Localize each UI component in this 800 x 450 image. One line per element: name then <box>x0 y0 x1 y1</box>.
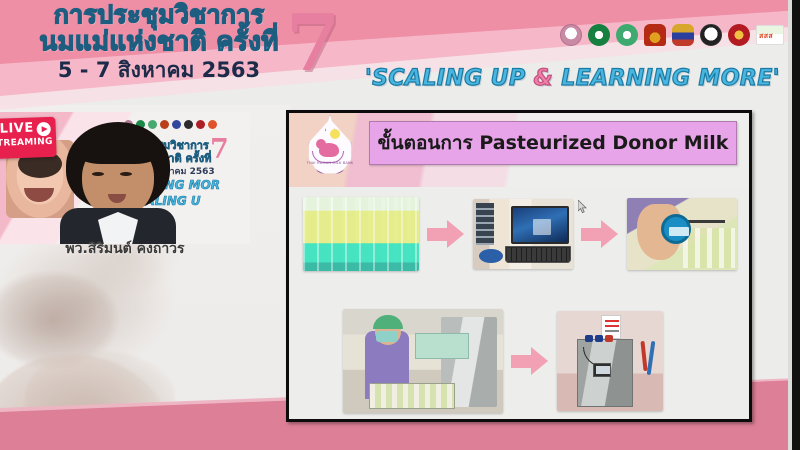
presentation-slide: THAI HUMAN MILK BANK ขั้นตอนการ Pasteuri… <box>286 110 752 422</box>
nurse-face-mask <box>376 331 398 342</box>
royal-emblem-logo <box>672 24 694 46</box>
stethoscope-object <box>479 249 503 263</box>
milk-bottle-tray <box>369 383 455 409</box>
nurse-surgical-cap <box>373 315 403 329</box>
tagline-ampersand: & <box>534 66 554 91</box>
laptop-photo-shelf <box>476 203 494 245</box>
photo-milk-bottles-rack <box>303 197 419 271</box>
machine-control-knobs <box>585 335 593 342</box>
process-flow-row-1 <box>303 197 737 271</box>
blue-hose <box>647 341 656 375</box>
tagline-part-before: 'SCALING UP <box>365 66 534 91</box>
mouse-pointer <box>578 200 588 214</box>
milk-bottles-background <box>683 228 735 268</box>
red-hose <box>640 341 647 371</box>
conference-title-line2: นมแม่แห่งชาติ ครั้งที่ <box>24 29 294 56</box>
milk-bank-logo-caption: THAI HUMAN MILK BANK <box>301 161 359 165</box>
thermometer-probe <box>687 220 725 223</box>
photo-nurse-pasteurizing <box>343 309 503 413</box>
speaker-video-figure <box>58 122 178 244</box>
laptop-keyboard <box>505 246 571 263</box>
process-flow-row-2 <box>343 309 663 413</box>
edition-number: 7 <box>286 0 340 89</box>
conference-headline: การประชุมวิชาการ นมแม่แห่งชาติ ครั้งที่ … <box>24 2 294 81</box>
ministry-health-green-logo <box>588 24 610 46</box>
poster-logo-6 <box>184 120 193 129</box>
red-gold-temple-logo <box>644 24 666 46</box>
live-streaming-badge: LIVE STREAMING <box>0 117 57 159</box>
thai-human-milk-bank-logo: THAI HUMAN MILK BANK <box>299 117 361 179</box>
machine-display-panel <box>593 363 611 377</box>
photo-thermometer-check <box>627 198 737 270</box>
speaker-eye-right <box>120 172 132 176</box>
photo-pasteurizer-machine <box>557 311 663 411</box>
slide-title-text: ขั้นตอนการ Pasteurized Donor Milk <box>378 128 729 158</box>
flow-arrow-1 <box>427 220 465 248</box>
milk-drop-highlight <box>330 129 340 139</box>
royal-college-logo <box>560 24 582 46</box>
live-badge-label: LIVE <box>0 121 34 137</box>
screenshot-stage: การประชุมวิชาการ นมแม่แห่งชาติ ครั้งที่ … <box>0 0 800 450</box>
thaihealth-sss-logo <box>756 25 784 45</box>
photo-laptop-records <box>473 199 573 269</box>
poster-edition-number: 7 <box>210 134 229 165</box>
right-black-edge <box>792 0 800 450</box>
speaker-eye-left <box>92 172 104 176</box>
poster-logo-8 <box>208 120 217 129</box>
speaker-fringe <box>78 136 158 164</box>
conference-title-line1: การประชุมวิชาการ <box>24 2 294 28</box>
poster-logo-7 <box>196 120 205 129</box>
conference-date: 5 - 7 สิงหาคม 2563 <box>24 60 294 81</box>
organization-logos <box>560 24 784 46</box>
play-icon <box>36 122 50 136</box>
live-video-thumbnail[interactable]: การประชุมวิชาการ นมแม่แห่งชาติ ครั้งที่ … <box>0 112 250 244</box>
digital-thermometer-dial <box>661 214 691 244</box>
health-department-green-logo <box>616 24 638 46</box>
speaker-name-caption: พว.สิริมนต์ คงถาวร <box>0 238 250 260</box>
red-circle-logo <box>728 24 750 46</box>
streaming-badge-label: STREAMING <box>0 137 53 149</box>
flow-arrow-2 <box>581 220 619 248</box>
work-surface <box>415 333 469 359</box>
black-crown-logo <box>700 24 722 46</box>
tagline-part-after: LEARNING MORE' <box>553 66 780 91</box>
wall-notice-sign <box>601 315 621 339</box>
slide-title-band: ขั้นตอนการ Pasteurized Donor Milk <box>369 121 737 165</box>
conference-tagline: 'SCALING UP & LEARNING MORE' <box>365 66 790 91</box>
laptop-screen <box>511 206 569 244</box>
flow-arrow-3 <box>511 347 549 375</box>
